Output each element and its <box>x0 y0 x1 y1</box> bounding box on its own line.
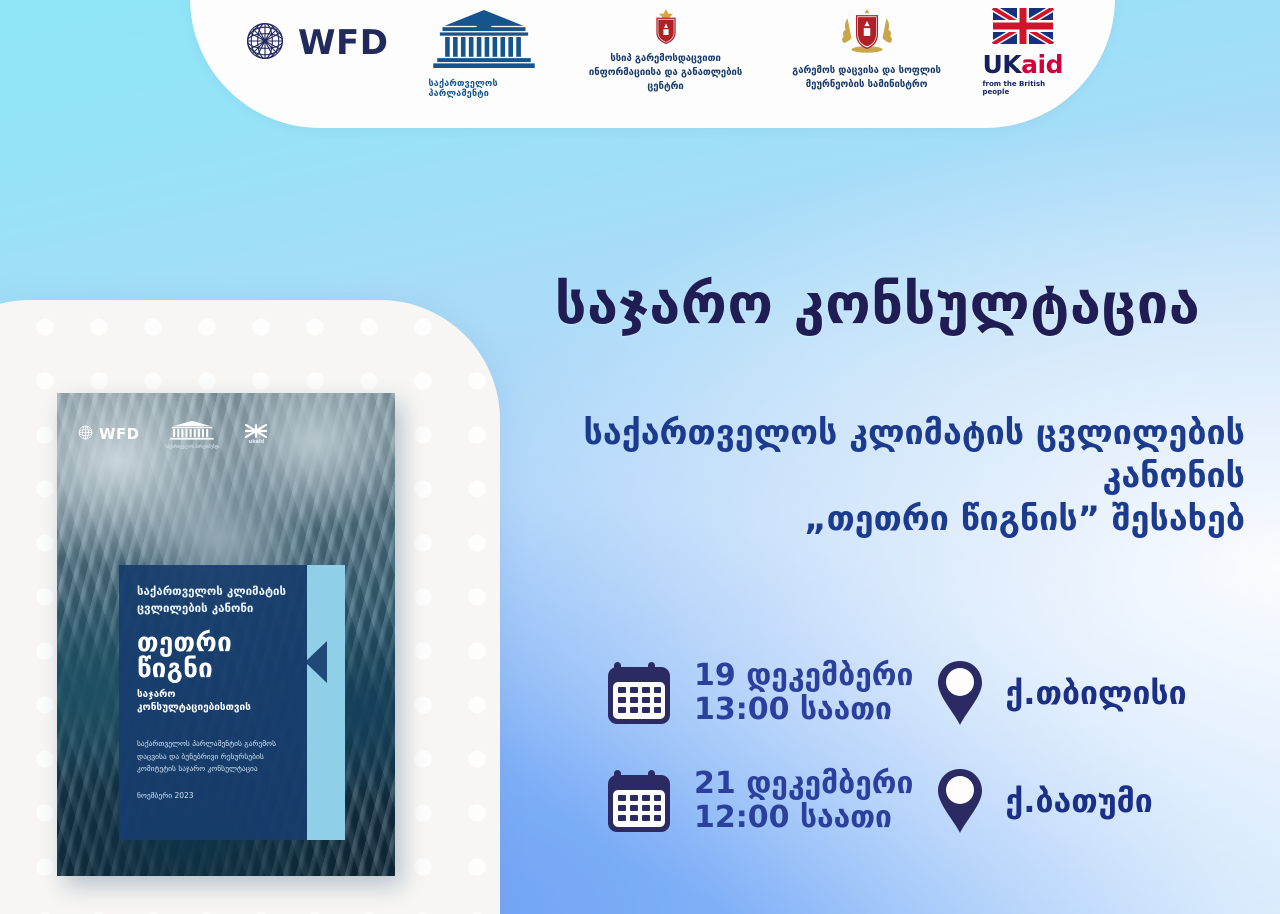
ukaid-uk-text: UK <box>982 50 1021 79</box>
parliament-building-icon <box>161 420 223 442</box>
cover-subtitle-line2: კონსულტაციებისთვის <box>137 701 291 714</box>
wfd-logo: WFD <box>242 18 388 68</box>
event-row: 21 დეკემბერი 12:00 საათი ქ.ბათუმი <box>608 766 1248 836</box>
book-parliament-logo: საქართველოს პარლამენტი <box>161 420 223 449</box>
page-subtitle: საქართველოს კლიმატის ცვლილების კანონის „… <box>470 412 1245 540</box>
event-date: 21 დეკემბერი <box>694 767 913 801</box>
cover-notch-shape <box>305 641 327 683</box>
book-wfd-logo: WFD <box>77 424 139 445</box>
georgia-state-crest-icon <box>841 8 893 60</box>
event-list: 19 დეკემბერი 13:00 საათი ქ.თბილისი <box>608 658 1248 874</box>
event-location: ქ.თბილისი <box>1005 674 1186 712</box>
parliament-building-icon <box>428 8 540 74</box>
ukaid-aid-text: aid <box>1021 50 1063 79</box>
subtitle-line-3: „თეთრი წიგნის” შესახებ <box>470 498 1245 541</box>
cover-eyebrow: საქართველოს კლიმატის ცვლილების კანონი <box>137 583 291 616</box>
poster-canvas: WFD <box>0 0 1280 914</box>
event-datetime: 19 დეკემბერი 13:00 საათი <box>694 659 913 726</box>
subtitle-line-2: კანონის <box>470 455 1245 498</box>
ministry-of-environment-logo: გარემოს დაცვისა და სოფლის მეურნეობის სამ… <box>791 8 943 92</box>
event-time: 13:00 საათი <box>694 693 913 727</box>
cover-body-text: საქართველოს პარლამენტის გარემოს დაცვისა … <box>137 738 291 775</box>
globe-wireframe-icon <box>77 424 94 445</box>
logo-header-bar: WFD <box>190 0 1115 128</box>
calendar-icon <box>608 766 680 836</box>
book-wfd-wordmark: WFD <box>99 425 139 443</box>
logo-row: WFD <box>190 8 1115 120</box>
event-datetime: 21 დეკემბერი 12:00 საათი <box>694 767 913 834</box>
parliament-of-georgia-logo: საქართველოს პარლამენტი <box>428 8 540 99</box>
event-date: 19 დეკემბერი <box>694 659 913 693</box>
parliament-caption: საქართველოს პარლამენტი <box>428 79 540 99</box>
calendar-icon <box>608 658 680 728</box>
book-parliament-caption: საქართველოს პარლამენტი <box>166 444 220 449</box>
ukaid-tagline: from the British people <box>982 80 1063 96</box>
event-time: 12:00 საათი <box>694 801 913 835</box>
georgia-small-crest-icon <box>653 8 679 48</box>
page-title: საჯარო კონსულტაცია <box>500 272 1255 337</box>
book-ukaid-logo: ukaid <box>245 424 267 445</box>
globe-wireframe-icon <box>242 18 288 68</box>
cover-date: ნოემბერი 2023 <box>137 791 291 800</box>
book-ukaid-caption: ukaid <box>249 439 265 445</box>
cover-title-line2: წიგნი <box>137 656 291 682</box>
cover-title-line1: თეთრი <box>137 630 291 656</box>
cover-accent-bar <box>307 565 345 840</box>
ministry-of-environment-caption: გარემოს დაცვისა და სოფლის მეურნეობის სამ… <box>791 64 943 92</box>
subtitle-line-1: საქართველოს კლიმატის ცვლილების <box>470 412 1245 455</box>
union-jack-icon <box>992 8 1054 48</box>
map-pin-icon <box>935 766 985 836</box>
book-cover-logo-row: WFD <box>77 417 379 451</box>
union-jack-icon <box>245 424 267 438</box>
event-row: 19 დეკემბერი 13:00 საათი ქ.თბილისი <box>608 658 1248 728</box>
wfd-wordmark: WFD <box>298 23 388 63</box>
map-pin-icon <box>935 658 985 728</box>
event-location: ქ.ბათუმი <box>1005 782 1152 820</box>
cover-text-panel: საქართველოს კლიმატის ცვლილების კანონი თე… <box>119 565 307 840</box>
book-cover-image: WFD <box>57 393 395 876</box>
ukaid-logo: UKaid from the British people <box>982 8 1063 96</box>
ukaid-wordmark: UKaid <box>982 50 1063 79</box>
cover-subtitle-line1: საჯარო <box>137 688 291 701</box>
environmental-information-centre-caption: სსიპ გარემოსდაცვითი ინფორმაციისა და განა… <box>580 52 750 93</box>
environmental-information-centre-logo: სსიპ გარემოსდაცვითი ინფორმაციისა და განა… <box>580 8 750 93</box>
